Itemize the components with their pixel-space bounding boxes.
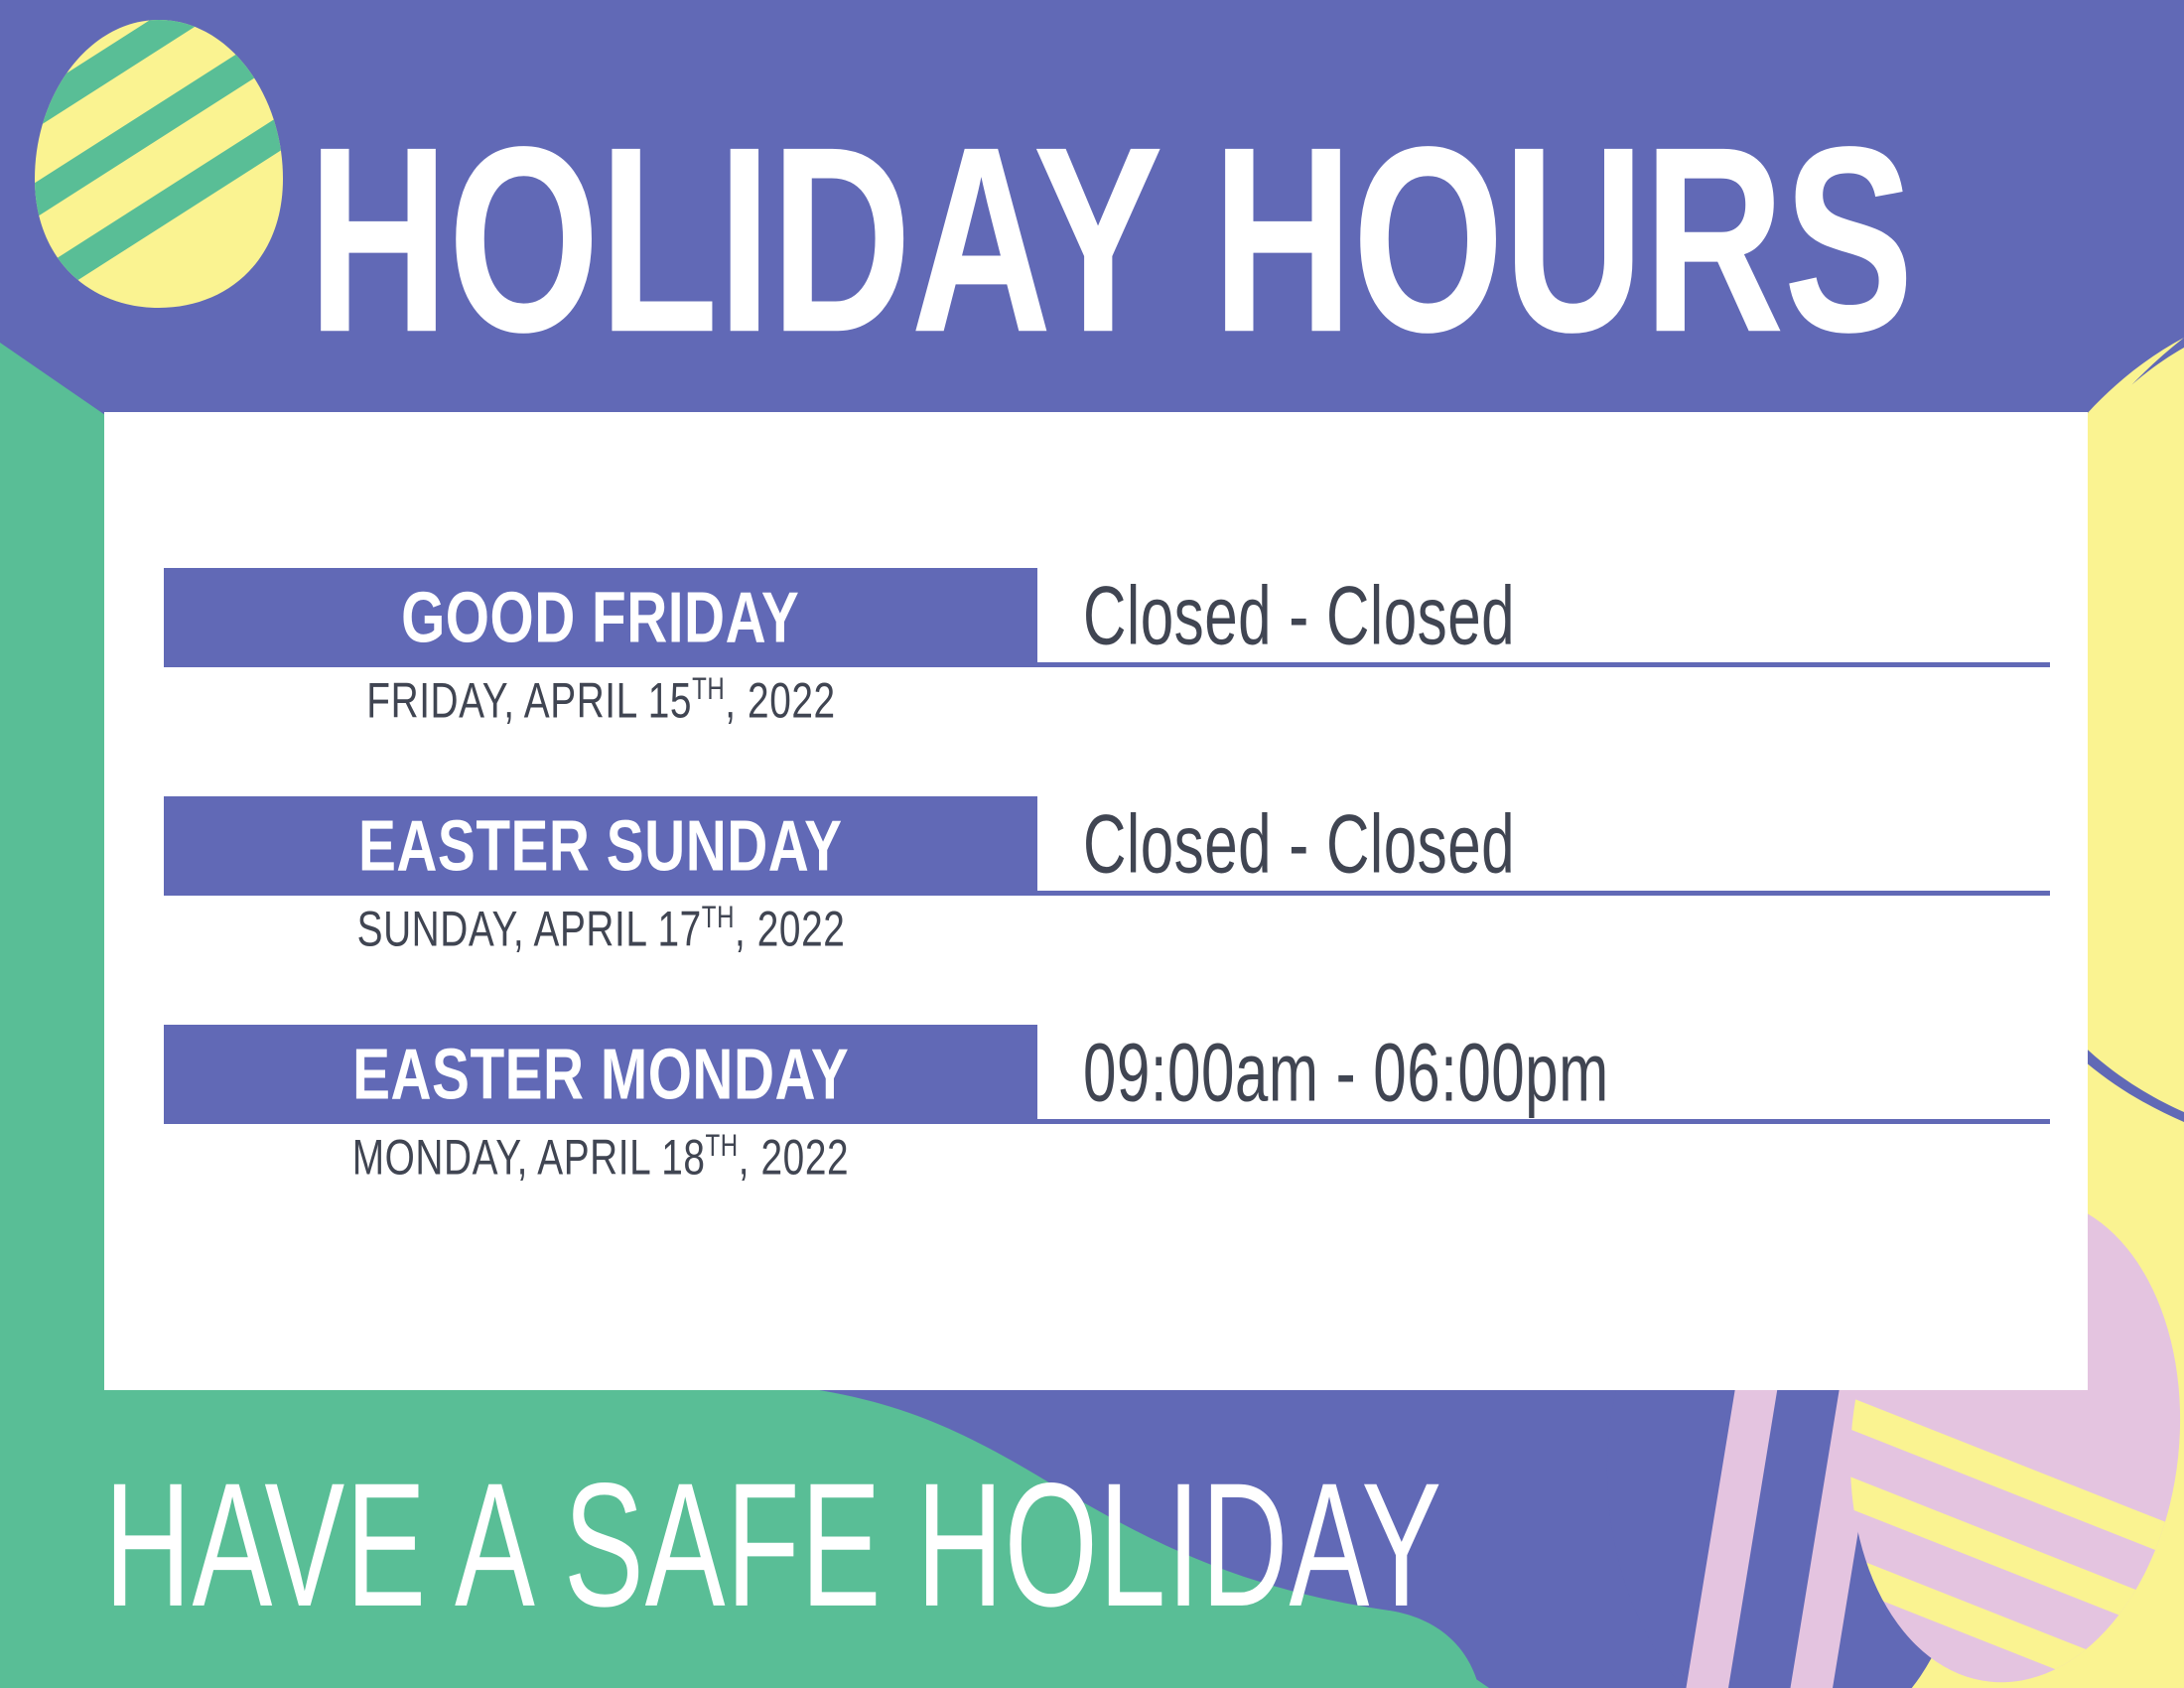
date-ordinal-suffix: TH [692, 673, 725, 707]
holiday-hours: Closed - Closed [1083, 567, 1515, 662]
holiday-date: MONDAY, APRIL 18TH, 2022 [352, 1130, 849, 1187]
date-ordinal-suffix: TH [706, 1130, 739, 1164]
footer-message: HAVE A SAFE HOLIDAY [104, 1445, 1442, 1646]
holiday-name-bar: GOOD FRIDAY [164, 568, 1037, 667]
table-row: EASTER SUNDAY Closed - Closed SUNDAY, AP… [164, 796, 2050, 1025]
holiday-date-line: FRIDAY, APRIL 15TH, 2022 [164, 679, 1037, 724]
holiday-hours-cell: 09:00am - 06:00pm [1037, 1025, 2050, 1124]
holiday-date: SUNDAY, APRIL 17TH, 2022 [356, 902, 845, 958]
holiday-name: EASTER SUNDAY [358, 804, 843, 887]
page-title: HOLIDAY HOURS [308, 119, 1913, 362]
holiday-date-line: MONDAY, APRIL 18TH, 2022 [164, 1136, 1037, 1181]
table-row: GOOD FRIDAY Closed - Closed FRIDAY, APRI… [164, 568, 2050, 796]
table-row: EASTER MONDAY 09:00am - 06:00pm MONDAY, … [164, 1025, 2050, 1253]
holiday-date-line: SUNDAY, APRIL 17TH, 2022 [164, 908, 1037, 952]
holiday-date: FRIDAY, APRIL 15TH, 2022 [366, 673, 835, 730]
holiday-hours-poster: HOLIDAY HOURS GOOD FRIDAY Closed - Close… [0, 0, 2184, 1688]
holiday-hours-cell: Closed - Closed [1037, 568, 2050, 667]
holiday-name-bar: EASTER SUNDAY [164, 796, 1037, 896]
holiday-name: EASTER MONDAY [352, 1033, 849, 1115]
date-ordinal-suffix: TH [701, 902, 734, 935]
holiday-name: GOOD FRIDAY [401, 576, 799, 658]
holiday-hours: Closed - Closed [1083, 795, 1515, 891]
holiday-name-bar: EASTER MONDAY [164, 1025, 1037, 1124]
holiday-hours: 09:00am - 06:00pm [1083, 1024, 1609, 1119]
schedule-table: GOOD FRIDAY Closed - Closed FRIDAY, APRI… [164, 568, 2050, 1253]
holiday-hours-cell: Closed - Closed [1037, 796, 2050, 896]
